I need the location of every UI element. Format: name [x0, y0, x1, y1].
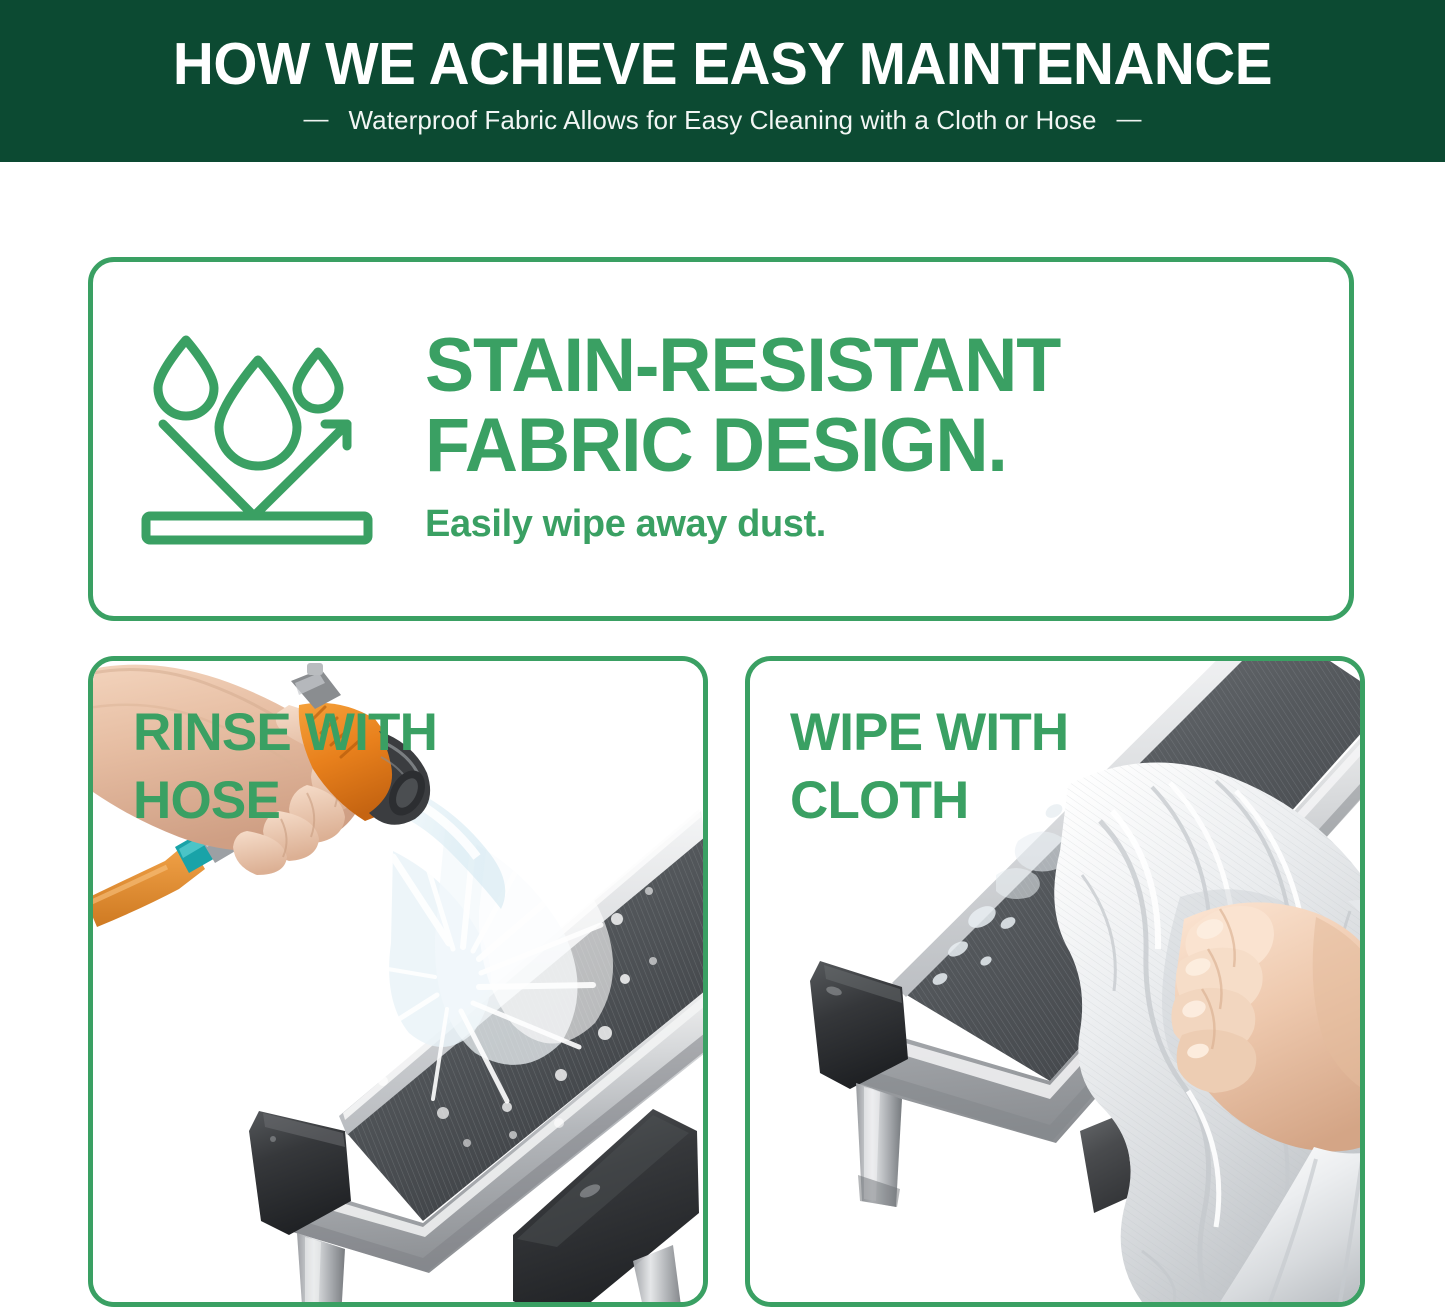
wipe-with-cloth-photo [750, 661, 1360, 1302]
feature-card: STAIN-RESISTANT FABRIC DESIGN. Easily wi… [88, 257, 1354, 621]
feature-subheadline: Easily wipe away dust. [425, 502, 1080, 546]
wipe-with-cloth-card: WIPE WITHCLOTH [745, 656, 1365, 1307]
infographic-page: HOW WE ACHIEVE EASY MAINTENANCE — Waterp… [0, 0, 1445, 1316]
header-banner: HOW WE ACHIEVE EASY MAINTENANCE — Waterp… [0, 0, 1445, 162]
dash-left-icon: — [303, 107, 328, 132]
page-subtitle: Waterproof Fabric Allows for Easy Cleani… [348, 105, 1096, 135]
header-subtitle-row: — Waterproof Fabric Allows for Easy Clea… [303, 105, 1141, 135]
water-repellent-icon [141, 324, 377, 554]
rinse-with-hose-photo [93, 661, 703, 1302]
feature-headline-line1: STAIN-RESISTANT [425, 326, 1060, 406]
feature-text-block: STAIN-RESISTANT FABRIC DESIGN. Easily wi… [425, 326, 1080, 552]
page-title: HOW WE ACHIEVE EASY MAINTENANCE [173, 32, 1272, 96]
rinse-with-hose-card: RINSE WITHHOSE [88, 656, 708, 1307]
feature-headline-line2: FABRIC DESIGN. [425, 406, 1060, 486]
dash-right-icon: — [1117, 107, 1142, 132]
